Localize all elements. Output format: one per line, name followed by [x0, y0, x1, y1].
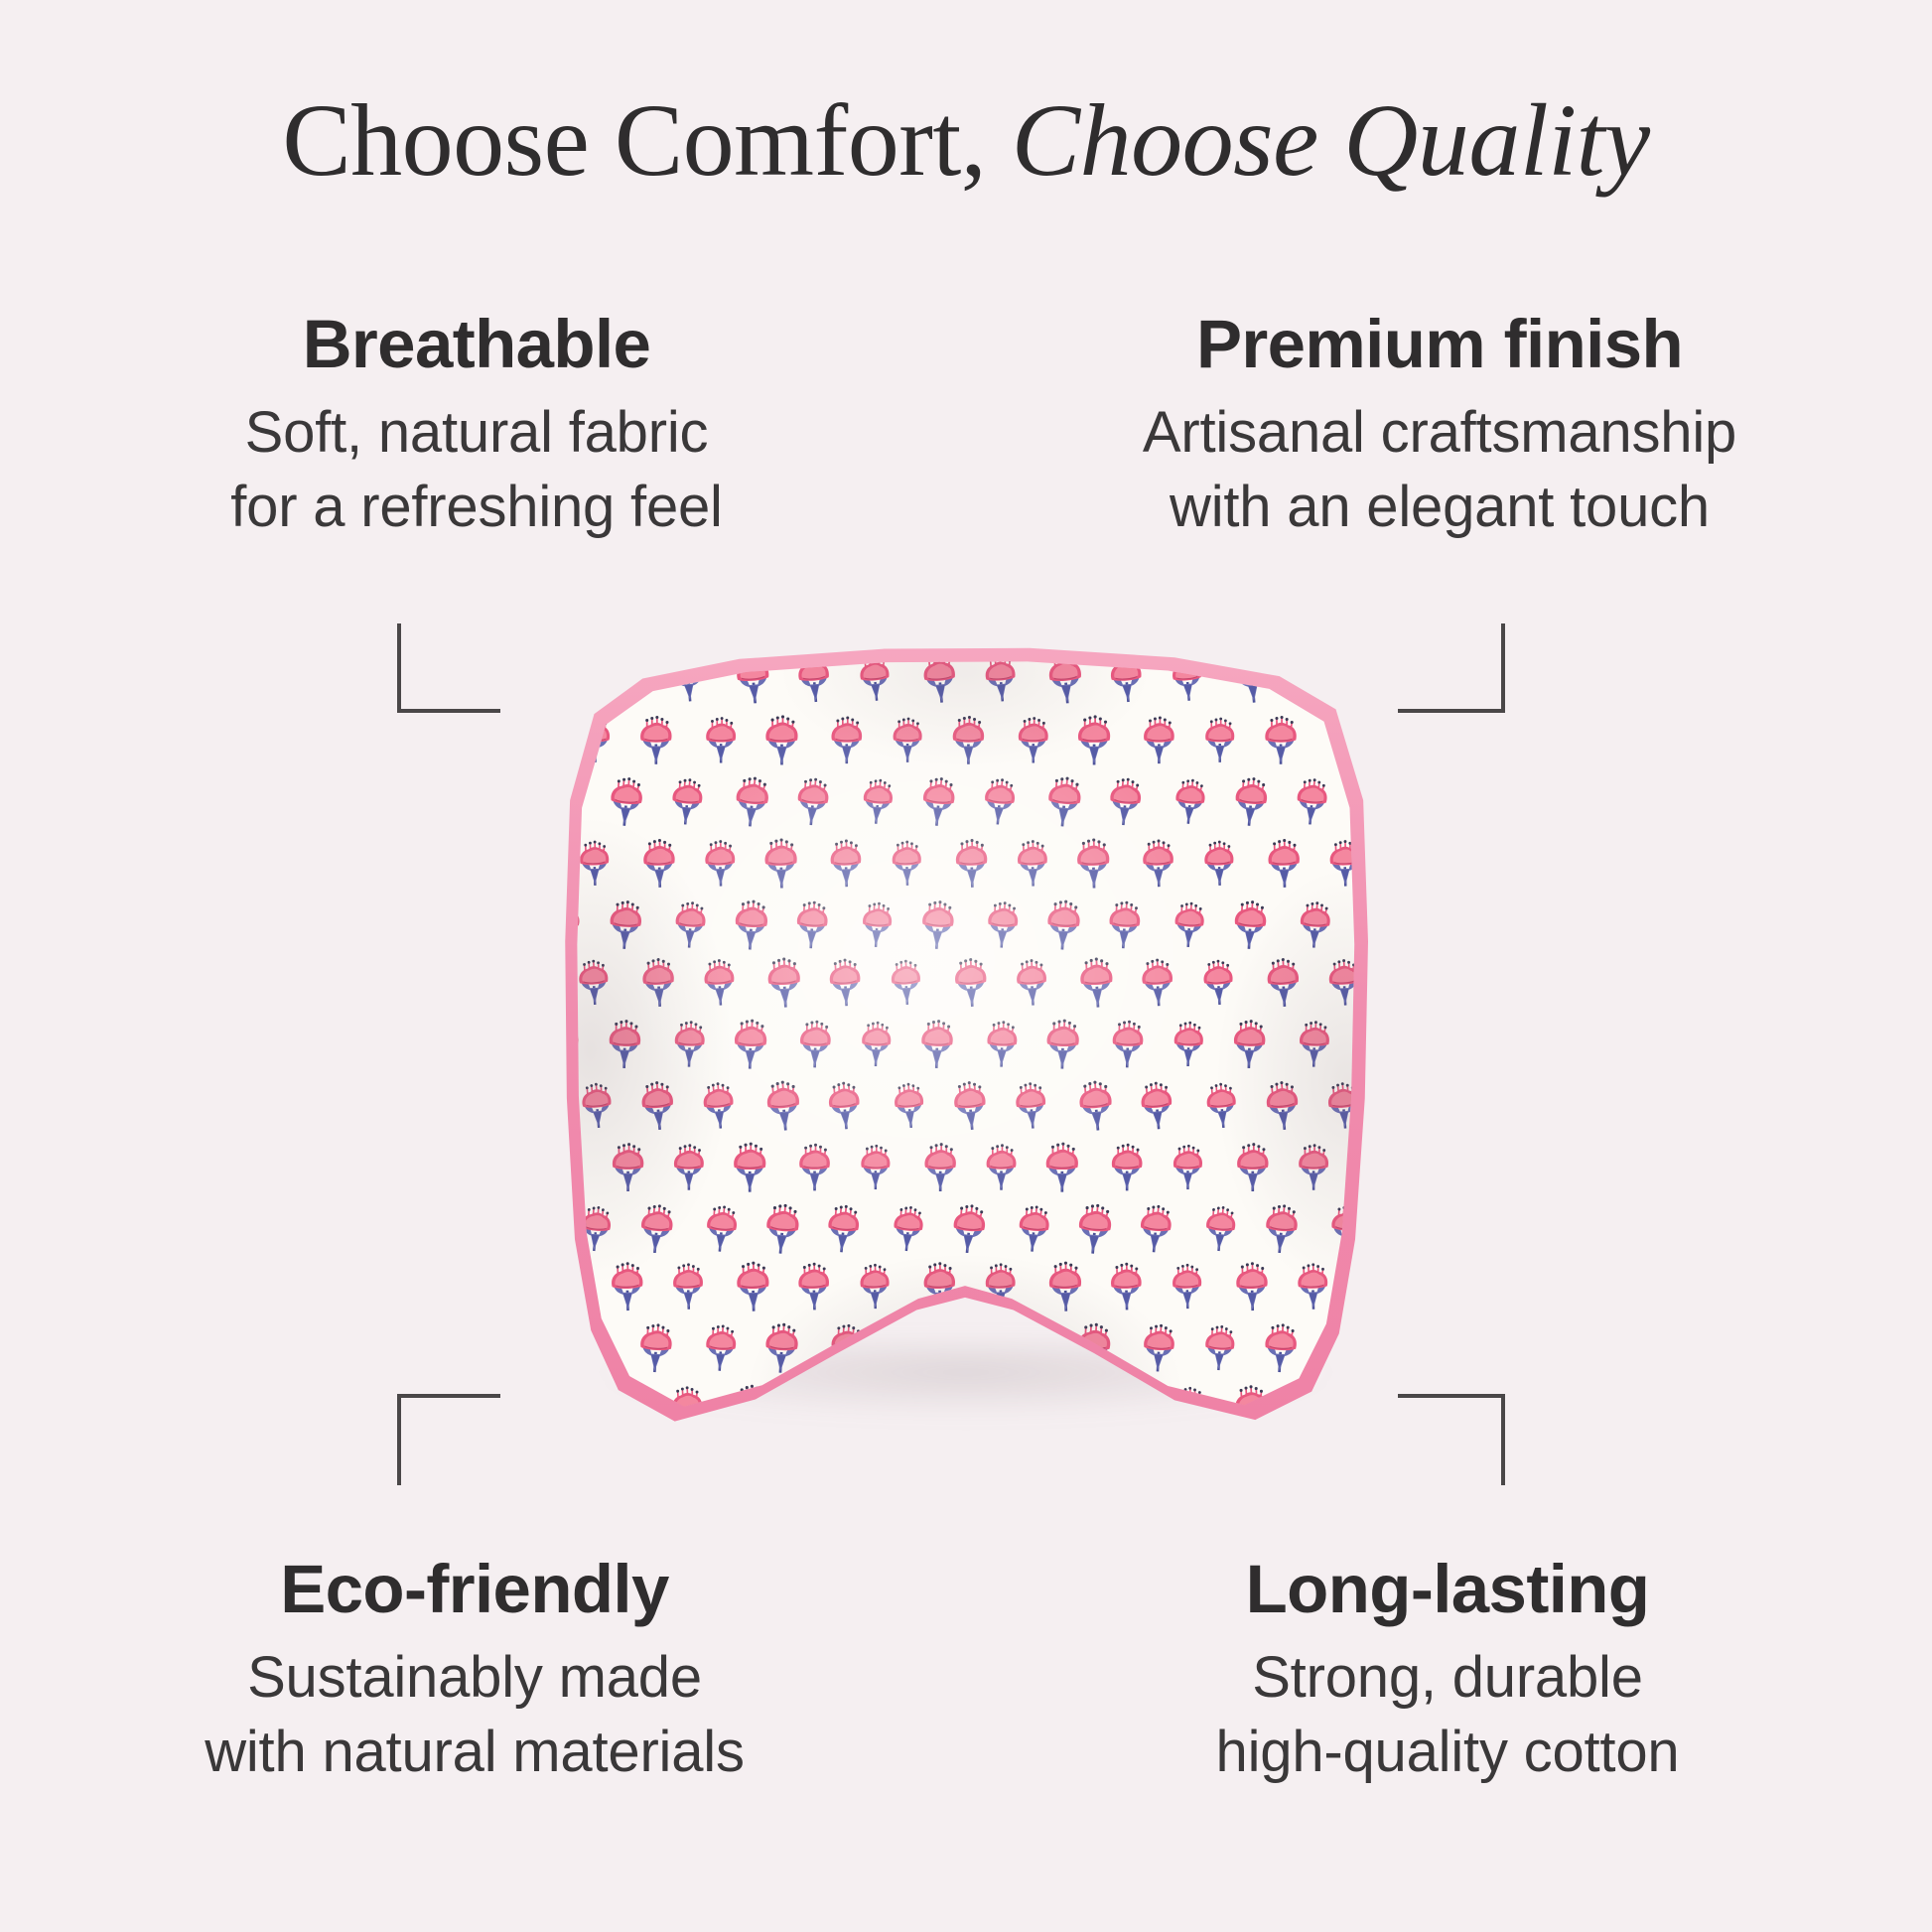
connector-line-horizontal [1398, 709, 1505, 713]
cushion-fabric-face [575, 656, 1355, 1415]
headline-regular: Choose Comfort, [282, 83, 986, 198]
feature-eco-friendly-line2: with natural materials [48, 1716, 901, 1789]
connector-bracket-top-right [1398, 623, 1505, 713]
feature-breathable-line2: for a refreshing feel [69, 471, 884, 544]
connector-bracket-bottom-left [397, 1394, 500, 1485]
feature-long-lasting-title: Long-lasting [1011, 1551, 1884, 1627]
feature-premium-finish: Premium finish Artisanal craftsmanship w… [1003, 306, 1876, 544]
connector-line-horizontal [397, 1394, 500, 1398]
feature-premium-finish-line1: Artisanal craftsmanship [1003, 396, 1876, 470]
connector-line-vertical [397, 623, 401, 713]
connector-line-horizontal [397, 709, 500, 713]
feature-breathable-line1: Soft, natural fabric [69, 396, 884, 470]
feature-breathable-title: Breathable [69, 306, 884, 382]
product-image-cushion [562, 643, 1368, 1428]
connector-line-horizontal [1398, 1394, 1505, 1398]
feature-long-lasting-body: Strong, durable high-quality cotton [1011, 1641, 1884, 1788]
feature-long-lasting-line2: high-quality cotton [1011, 1716, 1884, 1789]
feature-premium-finish-body: Artisanal craftsmanship with an elegant … [1003, 396, 1876, 543]
feature-premium-finish-line2: with an elegant touch [1003, 471, 1876, 544]
cushion-floral-pattern [575, 656, 1355, 1415]
feature-eco-friendly-title: Eco-friendly [48, 1551, 901, 1627]
feature-eco-friendly-body: Sustainably made with natural materials [48, 1641, 901, 1788]
feature-breathable: Breathable Soft, natural fabric for a re… [69, 306, 884, 544]
connector-line-vertical [1501, 1394, 1505, 1485]
connector-line-vertical [1501, 623, 1505, 713]
feature-premium-finish-title: Premium finish [1003, 306, 1876, 382]
floral-motif-grid [575, 656, 1355, 1415]
infographic-canvas: Choose Comfort, Choose Quality Breathabl… [0, 0, 1932, 1932]
connector-bracket-bottom-right [1398, 1394, 1505, 1485]
headline-italic: Choose Quality [1012, 83, 1650, 198]
connector-bracket-top-left [397, 623, 500, 713]
connector-line-vertical [397, 1394, 401, 1485]
feature-eco-friendly-line1: Sustainably made [48, 1641, 901, 1715]
feature-long-lasting-line1: Strong, durable [1011, 1641, 1884, 1715]
page-title: Choose Comfort, Choose Quality [0, 85, 1932, 197]
feature-eco-friendly: Eco-friendly Sustainably made with natur… [48, 1551, 901, 1789]
feature-breathable-body: Soft, natural fabric for a refreshing fe… [69, 396, 884, 543]
feature-long-lasting: Long-lasting Strong, durable high-qualit… [1011, 1551, 1884, 1789]
